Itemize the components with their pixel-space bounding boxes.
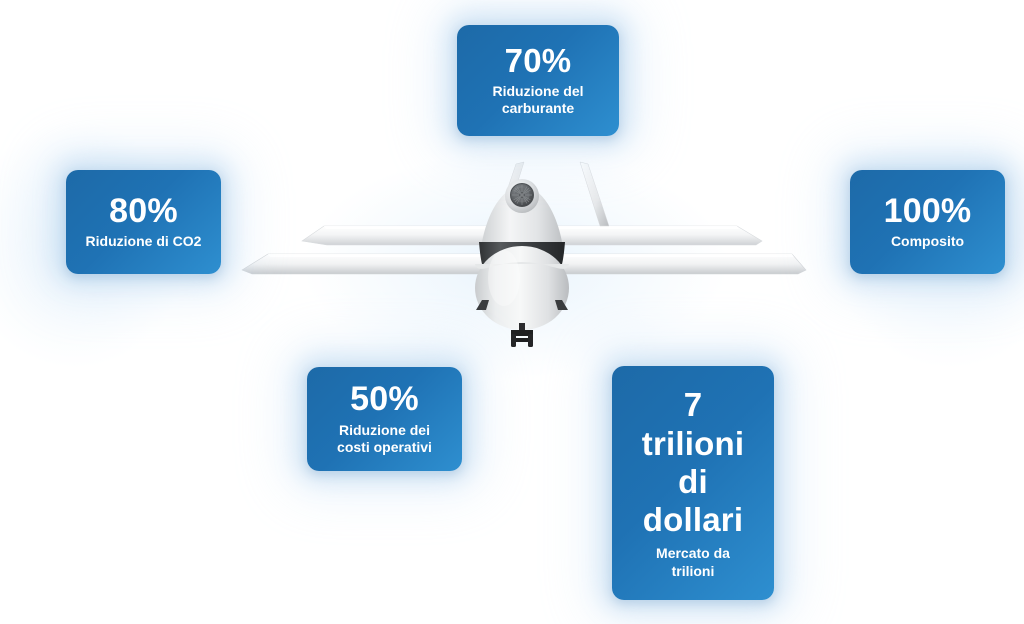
stat-label: Composito [891, 233, 964, 250]
uav-illustration [232, 158, 812, 353]
stat-value: 50% [350, 382, 419, 418]
stat-value: 100% [884, 194, 972, 230]
stat-value: 70% [505, 44, 572, 79]
stat-card-composite[interactable]: 100% Composito [850, 170, 1005, 274]
infographic-canvas: 70% Riduzione del carburante 80% Riduzio… [0, 0, 1024, 624]
stat-card-operating-costs[interactable]: 50% Riduzione dei costi operativi [307, 367, 462, 471]
stat-card-fuel-reduction[interactable]: 70% Riduzione del carburante [457, 25, 619, 136]
stat-value: 7 trilioni di dollari [642, 386, 744, 539]
stat-label: Riduzione dei costi operativi [337, 422, 432, 456]
stat-label: Mercato da trilioni [656, 545, 730, 579]
stat-card-market-size[interactable]: 7 trilioni di dollari Mercato da trilion… [612, 366, 774, 600]
stat-card-co2-reduction[interactable]: 80% Riduzione di CO2 [66, 170, 221, 274]
sensor-dome [505, 179, 539, 213]
stat-label: Riduzione del carburante [493, 83, 584, 117]
stat-value: 80% [109, 194, 178, 230]
stat-label: Riduzione di CO2 [86, 233, 202, 250]
